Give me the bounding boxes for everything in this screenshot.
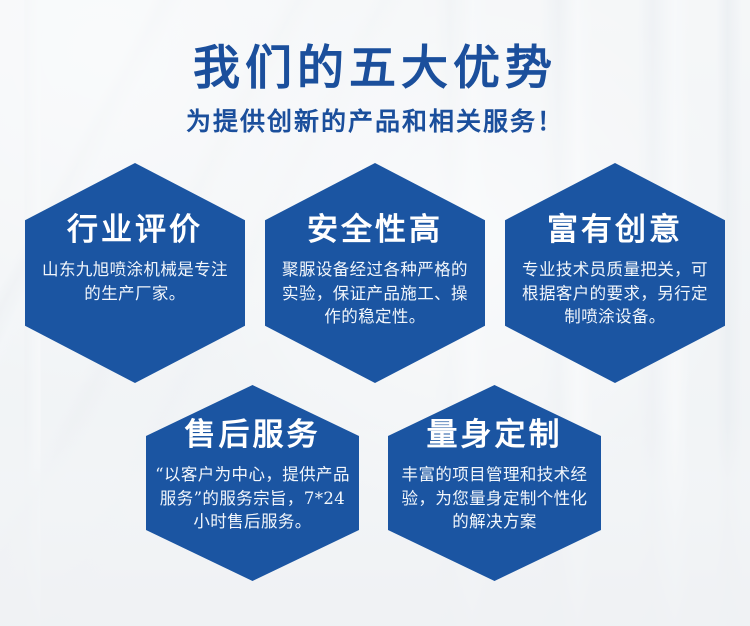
advantage-title-4: 售后服务	[185, 418, 321, 452]
advantage-body-5: 丰富的项目管理和技术经验，为您量身定制个性化的解决方案	[395, 463, 595, 533]
advantage-hexagon-1[interactable]: 行业评价 山东九旭喷涂机械是专注的生产厂家。	[25, 163, 245, 383]
advantage-body-3: 专业技术员质量把关，可根据客户的要求，另行定制喷涂设备。	[517, 258, 713, 328]
page-title: 我们的五大优势	[0, 42, 750, 96]
advantage-title-3: 富有创意	[547, 213, 683, 247]
advantage-hexagon-5[interactable]: 量身定制 丰富的项目管理和技术经验，为您量身定制个性化的解决方案	[388, 385, 601, 581]
advantage-title-5: 量身定制	[427, 418, 563, 452]
advantage-hexagon-4[interactable]: 售后服务 “以客户为中心，提供产品服务”的服务宗旨，7*24小时售后服务。	[146, 385, 359, 581]
page-subtitle: 为提供创新的产品和相关服务！	[0, 107, 750, 137]
advantage-title-1: 行业评价	[67, 213, 203, 247]
advantage-body-4: “以客户为中心，提供产品服务”的服务宗旨，7*24小时售后服务。	[153, 463, 353, 533]
advantage-body-2: 聚脲设备经过各种严格的实验，保证产品施工、操作的稳定性。	[277, 258, 473, 328]
advantages-banner: 我们的五大优势 为提供创新的产品和相关服务！ 行业评价 山东九旭喷涂机械是专注的…	[0, 0, 750, 626]
advantage-title-2: 安全性高	[307, 213, 443, 247]
advantage-hexagon-2[interactable]: 安全性高 聚脲设备经过各种严格的实验，保证产品施工、操作的稳定性。	[265, 163, 485, 383]
background-floor	[0, 420, 750, 626]
advantage-body-1: 山东九旭喷涂机械是专注的生产厂家。	[37, 258, 233, 305]
advantage-hexagon-3[interactable]: 富有创意 专业技术员质量把关，可根据客户的要求，另行定制喷涂设备。	[505, 163, 725, 383]
